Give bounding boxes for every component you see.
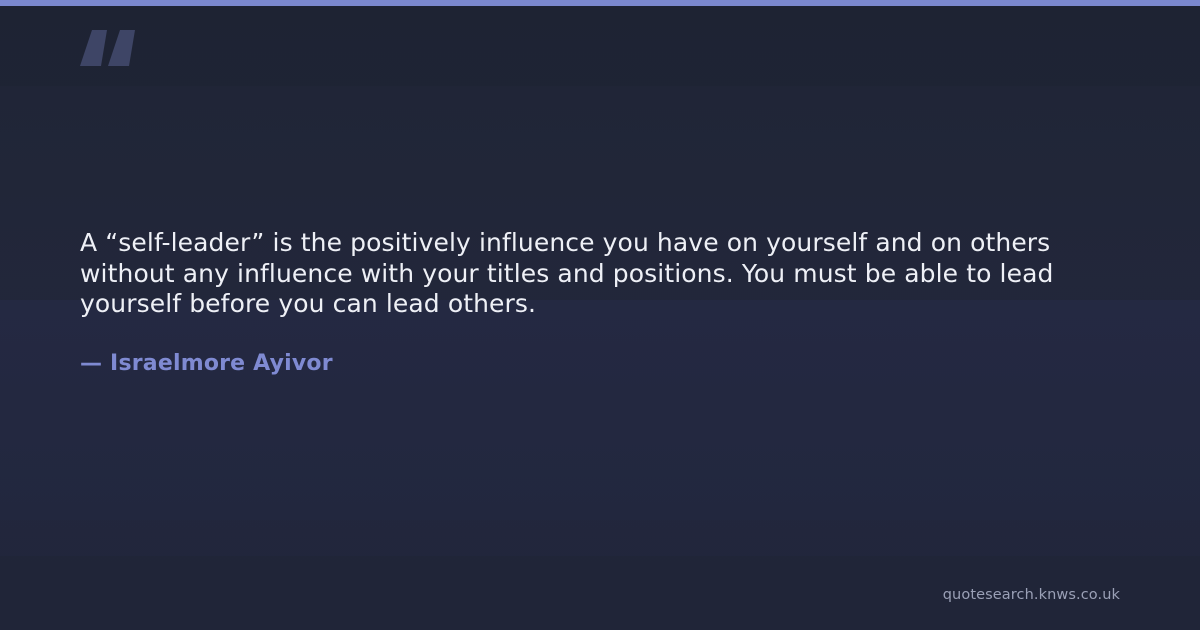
top-accent-bar	[0, 0, 1200, 6]
quote-card: A “self-leader” is the positively influe…	[0, 0, 1200, 630]
quote-content: A “self-leader” is the positively influe…	[80, 228, 1130, 377]
quote-text: A “self-leader” is the positively influe…	[80, 228, 1120, 320]
footer-site-url: quotesearch.knws.co.uk	[943, 586, 1120, 604]
quote-author: — Israelmore Ayivor	[80, 320, 1130, 377]
quotation-mark-icon	[74, 14, 144, 94]
